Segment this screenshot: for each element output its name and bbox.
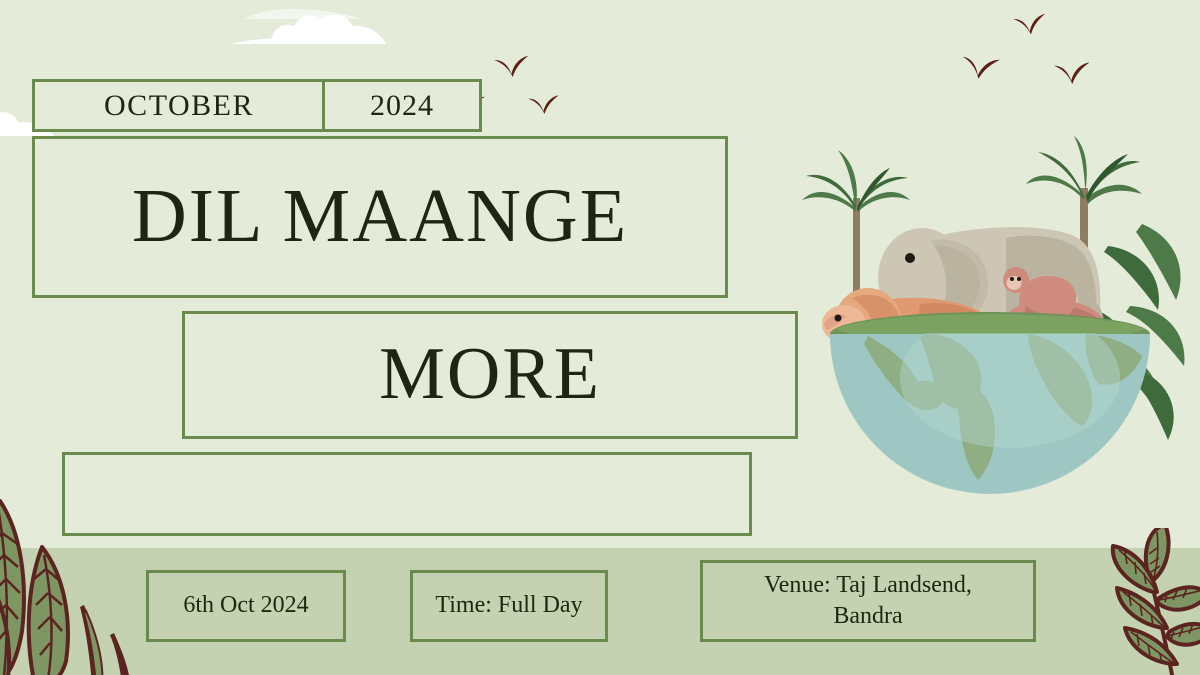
date-label: 6th Oct 2024 xyxy=(183,593,308,618)
time-label: Time: Full Day xyxy=(435,593,582,618)
time-box: Time: Full Day xyxy=(410,570,608,642)
cloud-icon xyxy=(244,2,364,20)
wildlife-globe-illustration xyxy=(790,128,1190,532)
venue-box: Venue: Taj Landsend, Bandra xyxy=(700,560,1036,642)
bird-icon xyxy=(527,94,560,116)
title-line1-box: DIL MAANGE xyxy=(32,136,728,298)
venue-label-line2: Bandra xyxy=(764,601,972,632)
year-box: 2024 xyxy=(322,79,482,132)
bird-icon xyxy=(493,55,530,79)
bottom-right-leaves xyxy=(1055,528,1200,675)
month-label: OCTOBER xyxy=(104,90,254,122)
title-line2: MORE xyxy=(379,336,601,414)
event-poster: OCTOBER 2024 DIL MAANGE MORE 6th Oct 202… xyxy=(0,0,1200,675)
venue-label-line1: Venue: Taj Landsend, xyxy=(764,570,972,601)
bird-icon xyxy=(1053,61,1092,85)
bird-icon xyxy=(1012,12,1048,37)
bottom-left-leaves xyxy=(0,455,180,675)
globe-earth-icon xyxy=(830,308,1150,494)
year-label: 2024 xyxy=(370,90,434,122)
month-box: OCTOBER xyxy=(32,79,323,132)
title-line1: DIL MAANGE xyxy=(132,177,628,257)
title-line2-box: MORE xyxy=(182,311,798,439)
